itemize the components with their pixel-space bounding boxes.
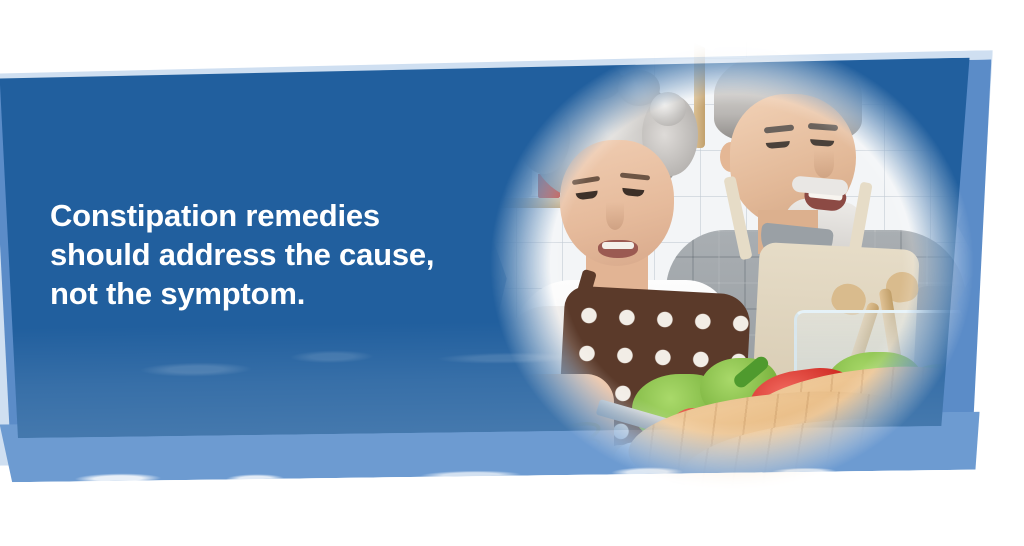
photo-torn-mask	[476, 22, 988, 506]
banner-stage: Constipation remedies should address the…	[0, 0, 1024, 546]
woman-hair-curl	[578, 62, 622, 100]
woman-hair-curl	[520, 96, 554, 130]
woman-hair-curl	[650, 92, 686, 126]
banner-headline: Constipation remedies should address the…	[50, 196, 470, 313]
man-nose	[814, 150, 834, 178]
woman-nose	[606, 202, 624, 230]
woman-mouth	[598, 240, 638, 258]
headline-line-1: Constipation remedies	[50, 196, 470, 235]
couple-cooking-photo	[476, 22, 988, 506]
headline-line-3: not the symptom.	[50, 274, 470, 313]
headline-line-2: should address the cause,	[50, 235, 470, 274]
